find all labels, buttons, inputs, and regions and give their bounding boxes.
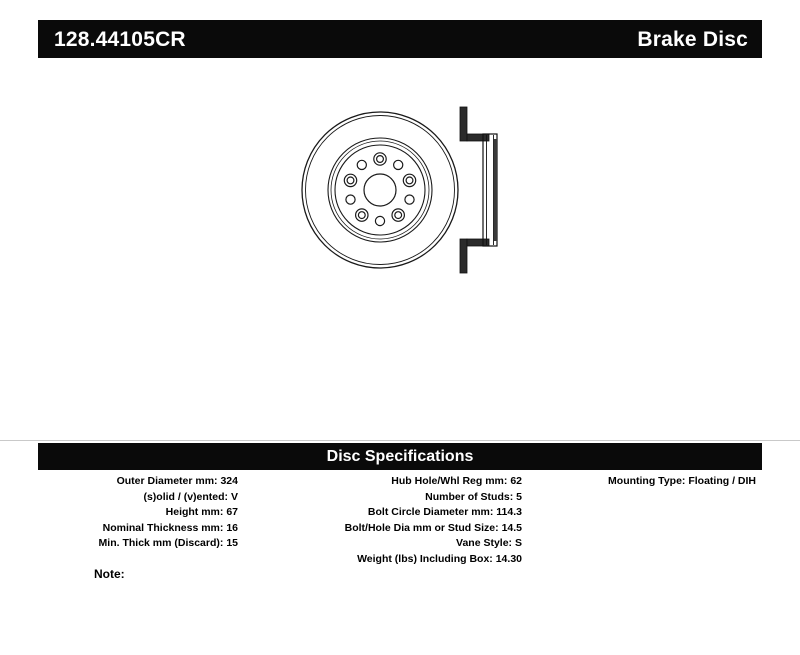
edge-profile [460,107,497,273]
spec-label: (s)olid / (v)ented: [143,491,228,503]
spec-label: Height mm: [166,506,224,518]
lug-stud-hole [403,174,415,186]
spec-row: Min. Thick mm (Discard): 15 [38,536,238,552]
spec-row: (s)olid / (v)ented: V [38,490,238,506]
spec-value: 67 [226,506,238,518]
spec-value: Floating / DIH [688,475,756,487]
spec-row: Bolt/Hole Dia mm or Stud Size: 14.5 [244,521,522,537]
lug-stud-hole [374,153,386,165]
lightening-hole [405,195,414,204]
spec-row: Nominal Thickness mm: 16 [38,521,238,537]
lug-stud-hole [392,209,404,221]
spec-label: Mounting Type: [608,475,685,487]
spec-sheet-page: 128.44105CR Brake Disc [0,0,800,655]
lug-stud-hole [344,174,356,186]
hat-step-top [467,134,489,141]
hat-flange-top [460,107,467,141]
lightening-hole [357,160,366,169]
product-illustration [280,95,520,285]
spec-label: Vane Style: [456,537,512,549]
spec-row: Outer Diameter mm: 324 [38,474,238,490]
spec-value: 114.3 [496,506,522,518]
spec-column-mounting-type: Mounting Type: Floating / DIH [530,474,762,490]
product-type-label: Brake Disc [637,29,748,50]
lightening-hole [394,160,403,169]
friction-ring-inner-edge [328,138,432,242]
spec-row: Number of Studs: 5 [244,490,522,506]
spec-title-bar: Disc Specifications [38,443,762,470]
spec-value: 16 [226,522,238,534]
hat-flange-bottom [460,239,467,273]
spec-table: Outer Diameter mm: 324 (s)olid / (v)ente… [38,474,762,568]
note-block: Note: [94,568,248,580]
section-divider [0,440,800,441]
hat-step-bottom [467,239,489,246]
hat-outer-edge [335,145,425,235]
spec-value: V [231,491,238,503]
center-hub-bore [364,174,396,206]
spec-value: S [515,537,522,549]
spec-label: Min. Thick mm (Discard): [99,537,224,549]
spec-row: Bolt Circle Diameter mm: 114.3 [244,505,522,521]
spec-row: Vane Style: S [244,536,522,552]
spec-value: 15 [226,537,238,549]
lug-stud-hole [356,209,368,221]
spec-column-mounting-hardware: Hub Hole/Whl Reg mm: 62 Number of Studs:… [244,474,530,568]
part-number: 128.44105CR [54,29,186,50]
rotor-outer-edge [302,112,458,268]
spec-label: Weight (lbs) Including Box: [357,553,493,565]
spec-value: 14.30 [496,553,522,565]
spec-label: Number of Studs: [425,491,513,503]
lug-stud-holes [344,153,415,222]
spec-label: Outer Diameter mm: [117,475,218,487]
spec-section-title: Disc Specifications [327,449,474,465]
spec-label: Hub Hole/Whl Reg mm: [391,475,507,487]
spec-label: Bolt Circle Diameter mm: [368,506,493,518]
friction-surface-shading [494,139,497,241]
spec-row: Mounting Type: Floating / DIH [530,474,756,490]
spec-value: 14.5 [502,522,522,534]
spec-value: 324 [220,475,238,487]
spec-column-dimensions: Outer Diameter mm: 324 (s)olid / (v)ente… [38,474,244,552]
spec-row: Weight (lbs) Including Box: 14.30 [244,552,522,568]
note-label: Note: [94,567,125,581]
header-bar: 128.44105CR Brake Disc [38,20,762,58]
lightening-hole [346,195,355,204]
spec-row: Hub Hole/Whl Reg mm: 62 [244,474,522,490]
spec-value: 62 [510,475,522,487]
spec-value: 5 [516,491,522,503]
spec-row: Height mm: 67 [38,505,238,521]
lightening-hole [375,216,384,225]
spec-label: Bolt/Hole Dia mm or Stud Size: [345,522,499,534]
spec-label: Nominal Thickness mm: [103,522,224,534]
